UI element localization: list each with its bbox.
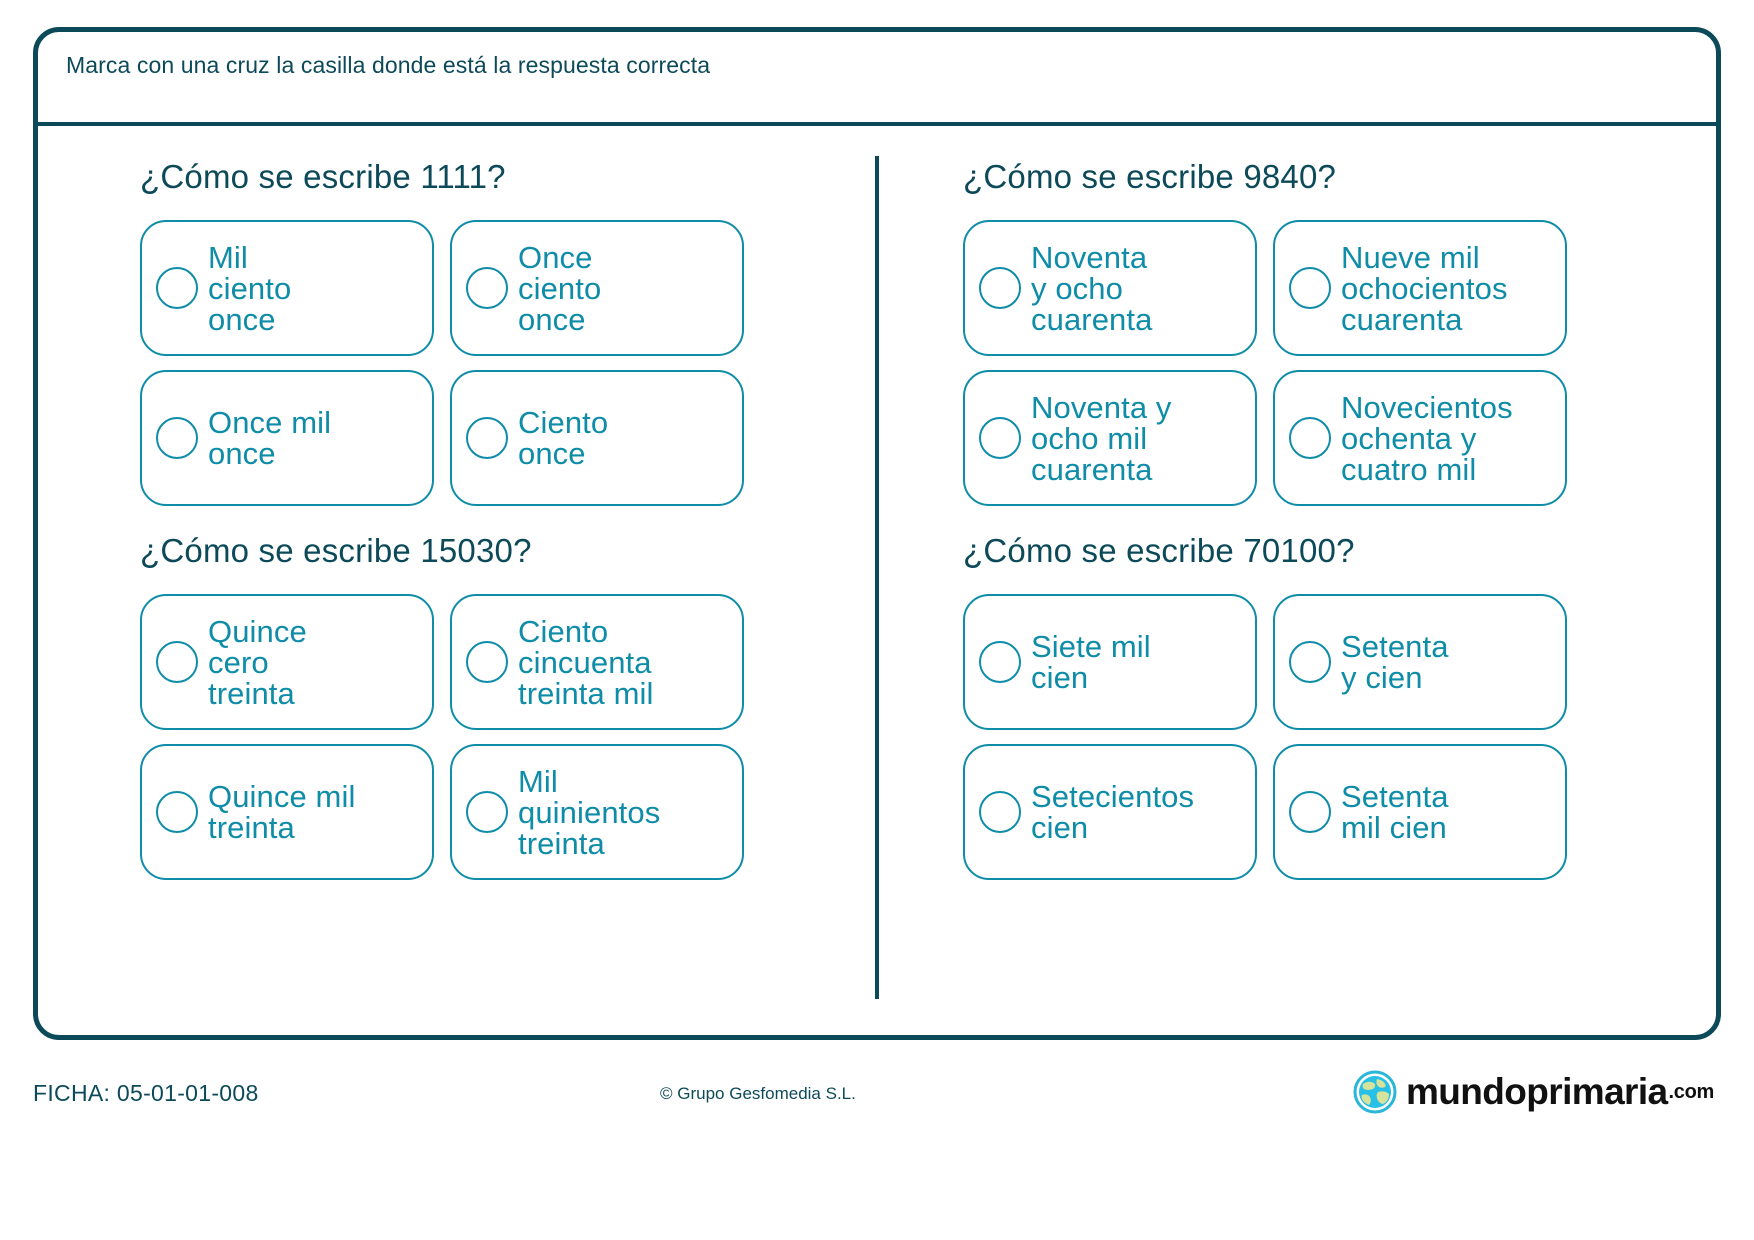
option-line: Noventa y <box>1031 392 1171 423</box>
option-line: once <box>208 438 331 469</box>
option-4-4[interactable]: Setenta mil cien <box>1273 744 1567 880</box>
option-line: quinientos <box>518 797 660 828</box>
option-line: cien <box>1031 662 1151 693</box>
right-column: ¿Cómo se escribe 9840? Noventa y ocho cu… <box>893 126 1716 1035</box>
option-line: once <box>208 304 291 335</box>
footer: FICHA: 05-01-01-008 © Grupo Gesfomedia S… <box>0 1060 1754 1130</box>
radio-circle-icon[interactable] <box>979 641 1021 683</box>
option-line: mil cien <box>1341 812 1449 843</box>
option-line: ocho mil <box>1031 423 1171 454</box>
radio-circle-icon[interactable] <box>979 417 1021 459</box>
option-label: Mil quinientos treinta <box>518 766 660 859</box>
instruction-band: Marca con una cruz la casilla donde está… <box>38 32 1716 126</box>
question-title-1: ¿Cómo se escribe 1111? <box>140 158 857 196</box>
radio-circle-icon[interactable] <box>979 267 1021 309</box>
option-1-4[interactable]: Ciento once <box>450 370 744 506</box>
option-line: cien <box>1031 812 1194 843</box>
copyright-text: © Grupo Gesfomedia S.L. <box>660 1084 856 1104</box>
radio-circle-icon[interactable] <box>156 267 198 309</box>
option-line: Once mil <box>208 407 331 438</box>
mundoprimaria-logo[interactable]: mundoprimaria .com <box>1353 1070 1714 1114</box>
option-label: Quince cero treinta <box>208 616 307 709</box>
option-label: Once ciento once <box>518 242 601 335</box>
option-line: Setecientos <box>1031 781 1194 812</box>
option-1-1[interactable]: Mil ciento once <box>140 220 434 356</box>
question-title-4: ¿Cómo se escribe 70100? <box>963 532 1680 570</box>
radio-circle-icon[interactable] <box>156 417 198 459</box>
option-4-3[interactable]: Setecientos cien <box>963 744 1257 880</box>
radio-circle-icon[interactable] <box>1289 641 1331 683</box>
option-line: cuatro mil <box>1341 454 1513 485</box>
option-line: cincuenta <box>518 647 653 678</box>
option-line: Nueve mil <box>1341 242 1508 273</box>
radio-circle-icon[interactable] <box>466 417 508 459</box>
options-grid-3: Quince cero treinta Ciento cincuenta tre… <box>140 594 857 880</box>
option-line: Mil <box>208 242 291 273</box>
option-line: cuarenta <box>1031 454 1171 485</box>
option-line: Ciento <box>518 407 608 438</box>
options-grid-4: Siete mil cien Setenta y cien <box>963 594 1680 880</box>
left-column: ¿Cómo se escribe 1111? Mil ciento once <box>38 126 893 1035</box>
option-4-2[interactable]: Setenta y cien <box>1273 594 1567 730</box>
question-title-3: ¿Cómo se escribe 15030? <box>140 532 857 570</box>
option-line: Novecientos <box>1341 392 1513 423</box>
option-label: Setecientos cien <box>1031 781 1194 843</box>
option-line: Setenta <box>1341 631 1449 662</box>
option-3-3[interactable]: Quince mil treinta <box>140 744 434 880</box>
logo-wordmark: mundoprimaria <box>1406 1071 1668 1113</box>
option-label: Siete mil cien <box>1031 631 1151 693</box>
option-line: ciento <box>518 273 601 304</box>
option-label: Noventa y ocho cuarenta <box>1031 242 1152 335</box>
option-label: Noventa y ocho mil cuarenta <box>1031 392 1171 485</box>
option-line: once <box>518 304 601 335</box>
option-label: Setenta mil cien <box>1341 781 1449 843</box>
option-line: Ciento <box>518 616 653 647</box>
option-2-1[interactable]: Noventa y ocho cuarenta <box>963 220 1257 356</box>
radio-circle-icon[interactable] <box>1289 791 1331 833</box>
option-3-2[interactable]: Ciento cincuenta treinta mil <box>450 594 744 730</box>
option-line: Setenta <box>1341 781 1449 812</box>
worksheet-body: ¿Cómo se escribe 1111? Mil ciento once <box>38 126 1716 1035</box>
option-line: Mil <box>518 766 660 797</box>
option-label: Setenta y cien <box>1341 631 1449 693</box>
option-line: Noventa <box>1031 242 1152 273</box>
option-line: ochenta y <box>1341 423 1513 454</box>
column-divider <box>875 156 879 999</box>
option-label: Mil ciento once <box>208 242 291 335</box>
ficha-code: FICHA: 05-01-01-008 <box>33 1080 259 1107</box>
radio-circle-icon[interactable] <box>466 791 508 833</box>
option-line: Once <box>518 242 601 273</box>
option-line: treinta mil <box>518 678 653 709</box>
logo-tld: .com <box>1669 1081 1714 1104</box>
radio-circle-icon[interactable] <box>466 267 508 309</box>
option-line: Quince mil <box>208 781 355 812</box>
option-label: Novecientos ochenta y cuatro mil <box>1341 392 1513 485</box>
options-grid-1: Mil ciento once Once ciento once <box>140 220 857 506</box>
option-line: ochocientos <box>1341 273 1508 304</box>
radio-circle-icon[interactable] <box>1289 267 1331 309</box>
option-line: treinta <box>208 812 355 843</box>
option-3-4[interactable]: Mil quinientos treinta <box>450 744 744 880</box>
option-2-2[interactable]: Nueve mil ochocientos cuarenta <box>1273 220 1567 356</box>
radio-circle-icon[interactable] <box>466 641 508 683</box>
option-label: Ciento once <box>518 407 608 469</box>
options-grid-2: Noventa y ocho cuarenta Nueve mil ochoci… <box>963 220 1680 506</box>
question-group-4: ¿Cómo se escribe 70100? Siete mil cien S… <box>963 532 1680 880</box>
option-line: cuarenta <box>1031 304 1152 335</box>
option-label: Ciento cincuenta treinta mil <box>518 616 653 709</box>
question-group-1: ¿Cómo se escribe 1111? Mil ciento once <box>140 158 857 506</box>
option-line: cuarenta <box>1341 304 1508 335</box>
radio-circle-icon[interactable] <box>1289 417 1331 459</box>
option-line: treinta <box>208 678 307 709</box>
option-1-2[interactable]: Once ciento once <box>450 220 744 356</box>
worksheet-frame: Marca con una cruz la casilla donde está… <box>33 27 1721 1040</box>
instruction-text: Marca con una cruz la casilla donde está… <box>38 32 710 79</box>
option-2-3[interactable]: Noventa y ocho mil cuarenta <box>963 370 1257 506</box>
question-title-2: ¿Cómo se escribe 9840? <box>963 158 1680 196</box>
globe-icon <box>1353 1070 1397 1114</box>
option-label: Once mil once <box>208 407 331 469</box>
option-line: once <box>518 438 608 469</box>
option-line: cero <box>208 647 307 678</box>
option-line: y ocho <box>1031 273 1152 304</box>
option-3-1[interactable]: Quince cero treinta <box>140 594 434 730</box>
option-4-1[interactable]: Siete mil cien <box>963 594 1257 730</box>
option-line: Siete mil <box>1031 631 1151 662</box>
option-line: treinta <box>518 828 660 859</box>
question-group-2: ¿Cómo se escribe 9840? Noventa y ocho cu… <box>963 158 1680 506</box>
radio-circle-icon[interactable] <box>156 641 198 683</box>
option-line: Quince <box>208 616 307 647</box>
option-label: Quince mil treinta <box>208 781 355 843</box>
radio-circle-icon[interactable] <box>156 791 198 833</box>
option-2-4[interactable]: Novecientos ochenta y cuatro mil <box>1273 370 1567 506</box>
option-label: Nueve mil ochocientos cuarenta <box>1341 242 1508 335</box>
radio-circle-icon[interactable] <box>979 791 1021 833</box>
question-group-3: ¿Cómo se escribe 15030? Quince cero trei… <box>140 532 857 880</box>
option-1-3[interactable]: Once mil once <box>140 370 434 506</box>
option-line: y cien <box>1341 662 1449 693</box>
option-line: ciento <box>208 273 291 304</box>
